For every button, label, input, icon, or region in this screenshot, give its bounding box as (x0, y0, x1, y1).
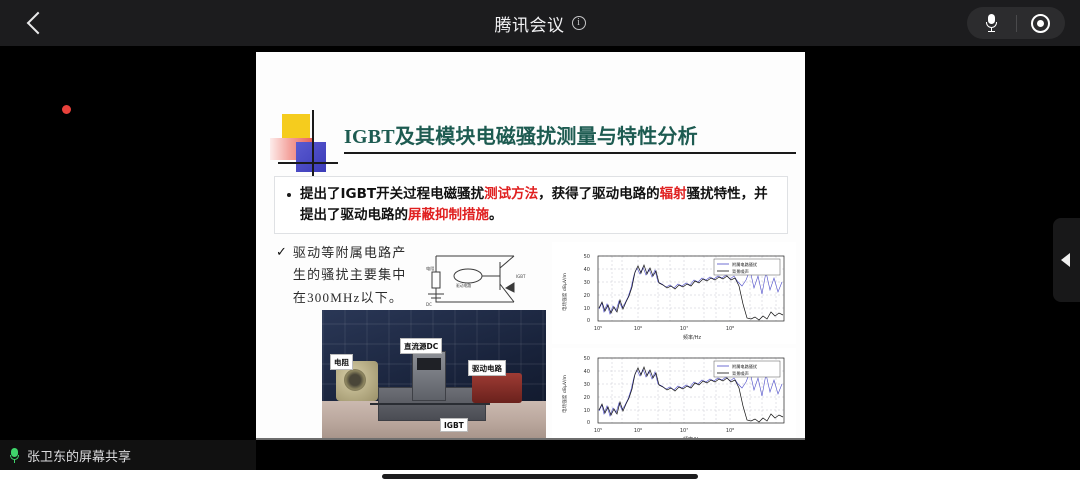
circuit-label-resistor: 电阻 (426, 265, 435, 272)
bullet-box: 提出了IGBT开关过程电磁骚扰测试方法，获得了驱动电路的辐射骚扰特性，并提出了驱… (274, 176, 788, 234)
check-bullet-text: 驱动等附属电路产 生的骚扰主要集中 在300MHz以下。 (293, 242, 407, 309)
bullet-seg-6: 。 (489, 207, 503, 223)
top-app-bar: 腾讯会议 i (0, 0, 1080, 46)
title-group: 腾讯会议 i (0, 0, 1080, 46)
photo-label-igbt: IGBT (440, 418, 468, 432)
home-indicator[interactable] (382, 474, 698, 479)
camera-record-icon (1031, 14, 1050, 33)
circuit-label-igbt: IGBT (516, 274, 526, 279)
photo-cable (370, 403, 490, 405)
svg-text:20: 20 (584, 395, 590, 401)
participants-drawer-handle[interactable] (1053, 218, 1080, 302)
photo-label-resistor: 电阻 (330, 354, 353, 370)
check-icon: ✓ (276, 244, 287, 309)
svg-text:附属电路骚扰: 附属电路骚扰 (732, 363, 758, 370)
page-title: 腾讯会议 (495, 11, 565, 36)
check-line-0: 驱动等附属电路产 (293, 245, 407, 260)
svg-text:10⁶: 10⁶ (634, 326, 642, 332)
svg-text:背景噪声: 背景噪声 (732, 370, 749, 377)
bullet-marker (287, 193, 291, 197)
bullet-seg-5: 屏蔽抑制措施 (408, 207, 489, 223)
camera-button[interactable] (1017, 7, 1066, 39)
screen-share-label: 张卫东的屏幕共享 (27, 446, 131, 465)
presentation-slide: IGBT及其模块电磁骚扰测量与特性分析 提出了IGBT开关过程电磁骚扰测试方法，… (256, 52, 805, 438)
title-underline (344, 152, 796, 154)
svg-text:10: 10 (584, 306, 590, 312)
svg-text:背景噪声: 背景噪声 (732, 268, 749, 275)
svg-text:10⁸: 10⁸ (726, 326, 734, 332)
shared-screen-stage[interactable]: IGBT及其模块电磁骚扰测量与特性分析 提出了IGBT开关过程电磁骚扰测试方法，… (0, 46, 1080, 440)
test-setup-photo: 电阻 直流源DC 驱动电路 IGBT (322, 310, 546, 438)
check-bullet: ✓ 驱动等附属电路产 生的骚扰主要集中 在300MHz以下。 (276, 242, 436, 309)
microphone-green-icon (10, 448, 19, 463)
bullet-seg-0: 提出了IGBT开关过程电磁骚扰 (300, 186, 484, 202)
microphone-icon (986, 14, 997, 32)
photo-dc-source (412, 351, 446, 401)
bullet-text: 提出了IGBT开关过程电磁骚扰测试方法，获得了驱动电路的辐射骚扰特性，并提出了驱… (300, 184, 777, 225)
check-line-2: 在300MHz以下。 (293, 290, 403, 305)
mic-button[interactable] (967, 7, 1016, 39)
svg-text:10⁷: 10⁷ (680, 326, 688, 332)
svg-text:10: 10 (584, 408, 590, 414)
svg-text:0: 0 (587, 318, 590, 324)
chevron-left-icon (26, 12, 49, 35)
bullet-seg-1: 测试方法 (484, 186, 538, 202)
spectrum-chart-top: 50 40 30 20 10 0 10⁵ 10⁶ 10⁷ 10⁸ 频率/Hz 电… (552, 242, 796, 344)
decorative-blocks-icon (270, 110, 342, 182)
bullet-seg-3: 辐射 (660, 186, 687, 202)
check-line-1: 生的骚扰主要集中 (293, 267, 407, 282)
svg-text:10⁵: 10⁵ (594, 326, 602, 332)
screen-share-bar[interactable]: 张卫东的屏幕共享 (0, 440, 256, 470)
top-right-controls (967, 7, 1065, 39)
chart-top-ylabel: 电场强度 dBμV/m (561, 272, 568, 311)
svg-text:10⁵: 10⁵ (594, 428, 602, 434)
chart-bottom-ylabel: 电场强度 dBμV/m (561, 374, 568, 413)
home-indicator-bar (0, 470, 1080, 486)
chart-top-legend: 附属电路骚扰 背景噪声 (714, 259, 780, 275)
svg-text:附属电路骚扰: 附属电路骚扰 (732, 261, 758, 268)
photo-label-drive: 驱动电路 (468, 360, 506, 376)
svg-text:10⁶: 10⁶ (634, 428, 642, 434)
bullet-seg-2: ，获得了驱动电路的 (538, 186, 660, 202)
info-icon[interactable]: i (572, 16, 586, 30)
bottom-filler (256, 440, 1080, 470)
chart-top-xlabel: 频率/Hz (683, 334, 701, 341)
chart-bottom-legend: 附属电路骚扰 背景噪声 (714, 361, 780, 377)
photo-label-dc: 直流源DC (400, 338, 442, 354)
svg-text:30: 30 (584, 280, 590, 286)
svg-text:40: 40 (584, 369, 590, 375)
spectrum-chart-bottom: 50 40 30 20 10 0 10⁵ 10⁶ 10⁷ 10⁸ 频率/Hz 电… (552, 348, 796, 438)
svg-text:50: 50 (584, 254, 590, 260)
svg-text:30: 30 (584, 382, 590, 388)
svg-text:0: 0 (587, 420, 590, 426)
circuit-label-dc: DC (426, 302, 432, 307)
circuit-label-drive: 驱动电路 (456, 283, 471, 288)
svg-text:20: 20 (584, 293, 590, 299)
circuit-diagram: 电阻 驱动电路 DC IGBT (422, 244, 538, 314)
svg-text:40: 40 (584, 267, 590, 273)
triangle-left-icon (1061, 253, 1070, 267)
svg-text:10⁷: 10⁷ (680, 428, 688, 434)
slide-title: IGBT及其模块电磁骚扰测量与特性分析 (344, 120, 794, 149)
svg-text:10⁸: 10⁸ (726, 428, 734, 434)
photo-drive-circuit (472, 373, 522, 403)
svg-text:50: 50 (584, 356, 590, 362)
back-button[interactable] (0, 0, 70, 46)
